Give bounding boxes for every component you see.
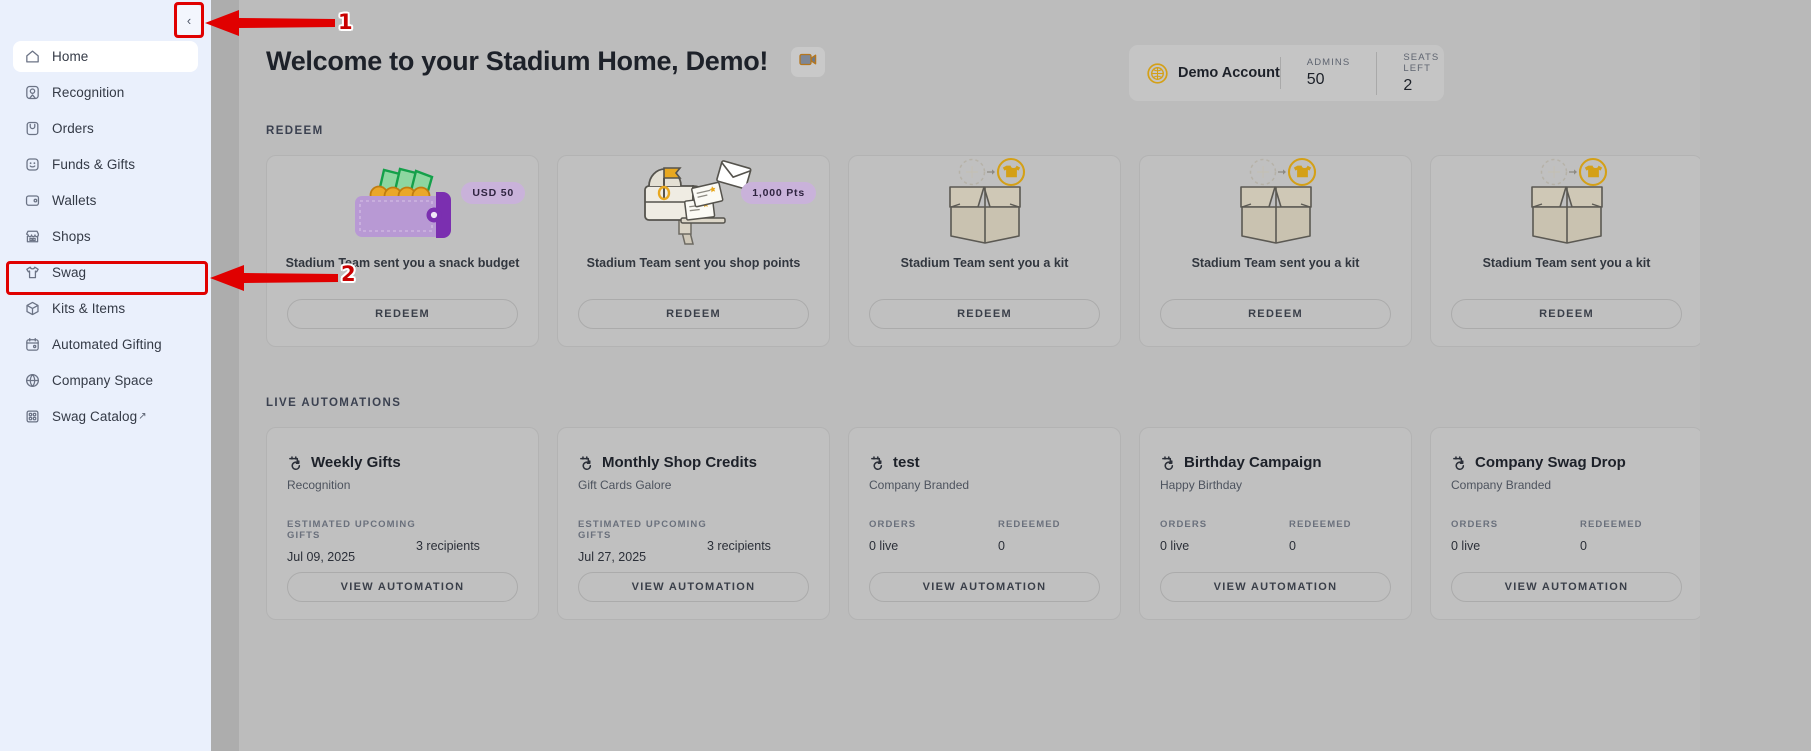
automation-card-name: Birthday Campaign <box>1184 454 1322 471</box>
collapse-sidebar-button[interactable]: ‹ <box>176 4 202 36</box>
chevron-left-icon: ‹ <box>187 13 191 28</box>
open-box-art <box>925 156 1045 253</box>
sidebar-item-label: Funds & Gifts <box>52 157 135 172</box>
intro-video-button[interactable] <box>791 47 825 77</box>
sidebar-item-label: Automated Gifting <box>52 337 162 352</box>
redeem-card-caption: Stadium Team sent you a snack budget <box>267 256 538 270</box>
automation-card-name: Monthly Shop Credits <box>602 454 757 471</box>
view-automation-button[interactable]: VIEW AUTOMATION <box>1451 572 1682 602</box>
redeem-card-badge: USD 50 <box>461 182 525 204</box>
automation-card[interactable]: Company Swag DropCompany BrandedORDERS0 … <box>1430 427 1700 620</box>
funds-gifts-icon <box>23 156 41 174</box>
app-root: HomeRecognitionOrdersFunds & GiftsWallet… <box>0 0 1811 751</box>
automation-stat-secondary: 3 recipients <box>707 519 836 564</box>
automation-stat-primary: ORDERS0 live <box>1160 519 1289 553</box>
home-icon <box>23 48 41 66</box>
automation-stat-primary-label: ORDERS <box>1160 519 1289 530</box>
redeem-card-caption: Stadium Team sent you a kit <box>1140 256 1411 270</box>
wallet-cash-art <box>350 158 455 251</box>
redeem-card-art-wrap <box>1140 156 1411 252</box>
video-camera-icon <box>799 53 817 71</box>
redeem-card[interactable]: 1,000 PtsStadium Team sent you shop poin… <box>557 155 830 347</box>
automation-card[interactable]: testCompany BrandedORDERS0 liveREDEEMED0… <box>848 427 1121 620</box>
main-content: Welcome to your Stadium Home, Demo! De <box>239 0 1700 751</box>
sidebar-item-recognition[interactable]: Recognition <box>13 77 198 108</box>
sidebar-item-funds-and-gifts[interactable]: Funds & Gifts <box>13 149 198 180</box>
gold-coin-icon <box>1147 63 1168 84</box>
sidebar-item-label: Orders <box>52 121 94 136</box>
automation-stat-primary-label: ORDERS <box>1451 519 1580 530</box>
automation-card-stats: ORDERS0 liveREDEEMED0 <box>849 519 1120 553</box>
account-stat-admins-label: ADMINS <box>1307 57 1351 68</box>
automation-stat-secondary: REDEEMED0 <box>1289 519 1418 553</box>
account-stat-admins: ADMINS 50 <box>1280 57 1351 89</box>
box-icon <box>23 300 41 318</box>
automation-card-stats: ORDERS0 liveREDEEMED0 <box>1140 519 1411 553</box>
automation-repeat-icon <box>1160 455 1176 471</box>
automation-card-name: Weekly Gifts <box>311 454 401 471</box>
automation-stat-primary: ORDERS0 live <box>869 519 998 553</box>
automation-card-name: Company Swag Drop <box>1475 454 1626 471</box>
automation-stat-secondary-label <box>707 519 836 530</box>
automation-card-header: Monthly Shop Credits <box>558 428 829 471</box>
sidebar-item-home[interactable]: Home <box>13 41 198 72</box>
hero-header: Welcome to your Stadium Home, Demo! <box>266 46 825 77</box>
sidebar-item-wallets[interactable]: Wallets <box>13 185 198 216</box>
view-automation-button[interactable]: VIEW AUTOMATION <box>578 572 809 602</box>
sidebar-item-label: Company Space <box>52 373 153 388</box>
sidebar-item-automated-gifting[interactable]: Automated Gifting <box>13 329 198 360</box>
automation-card-header: Birthday Campaign <box>1140 428 1411 471</box>
automation-repeat-icon <box>869 455 885 471</box>
redeem-button[interactable]: REDEEM <box>869 299 1100 329</box>
redeem-section-title: REDEEM <box>266 125 324 137</box>
redeem-card[interactable]: USD 50Stadium Team sent you a snack budg… <box>266 155 539 347</box>
sidebar-item-label: Home <box>52 49 88 64</box>
sidebar-item-label: Swag <box>52 265 86 280</box>
automation-card-subtitle: Gift Cards Galore <box>558 478 829 492</box>
automation-card[interactable]: Birthday CampaignHappy BirthdayORDERS0 l… <box>1139 427 1412 620</box>
automation-stat-primary-value: Jul 27, 2025 <box>578 550 707 564</box>
view-automation-button[interactable]: VIEW AUTOMATION <box>869 572 1100 602</box>
automation-stat-primary: ORDERS0 live <box>1451 519 1580 553</box>
redeem-card-badge: 1,000 Pts <box>741 182 816 204</box>
automation-stat-primary: ESTIMATED UPCOMING GIFTSJul 09, 2025 <box>287 519 416 564</box>
automation-stat-secondary: 3 recipients <box>416 519 545 564</box>
sidebar-item-swag[interactable]: Swag <box>13 257 198 288</box>
automation-stat-primary-value: 0 live <box>1451 539 1580 553</box>
automation-card-header: Weekly Gifts <box>267 428 538 471</box>
automation-stat-primary-value: Jul 09, 2025 <box>287 550 416 564</box>
automation-stat-secondary: REDEEMED0 <box>1580 519 1700 553</box>
redeem-card-caption: Stadium Team sent you a kit <box>1431 256 1700 270</box>
sidebar-item-swag-catalog[interactable]: Swag Catalog↗ <box>13 401 198 432</box>
sidebar-item-kits-and-items[interactable]: Kits & Items <box>13 293 198 324</box>
mailbox-art <box>635 156 753 253</box>
automation-stat-primary-label: ESTIMATED UPCOMING GIFTS <box>578 519 707 541</box>
automation-card-subtitle: Company Branded <box>849 478 1120 492</box>
sidebar-item-shops[interactable]: Shops <box>13 221 198 252</box>
automation-stat-secondary-value: 3 recipients <box>416 539 545 553</box>
sidebar-item-company-space[interactable]: Company Space <box>13 365 198 396</box>
account-chip[interactable]: Demo Account ADMINS 50 SEATS LEFT 2 <box>1129 45 1444 101</box>
sidebar-item-label: Kits & Items <box>52 301 125 316</box>
automation-repeat-icon <box>287 455 303 471</box>
automation-stat-secondary-value: 0 <box>1580 539 1700 553</box>
automation-stat-secondary-label: REDEEMED <box>1580 519 1700 530</box>
sidebar-item-orders[interactable]: Orders <box>13 113 198 144</box>
automation-card-name: test <box>893 454 920 471</box>
view-automation-button[interactable]: VIEW AUTOMATION <box>1160 572 1391 602</box>
account-name: Demo Account <box>1178 65 1280 81</box>
redeem-card-caption: Stadium Team sent you shop points <box>558 256 829 270</box>
calendar-icon <box>23 336 41 354</box>
live-automations-card-rail[interactable]: Weekly GiftsRecognitionESTIMATED UPCOMIN… <box>266 427 1700 620</box>
catalog-icon <box>23 408 41 426</box>
automation-card-subtitle: Recognition <box>267 478 538 492</box>
automation-stat-secondary-label: REDEEMED <box>998 519 1127 530</box>
automation-card-header: test <box>849 428 1120 471</box>
automation-stat-primary-value: 0 live <box>1160 539 1289 553</box>
open-box-art <box>1216 156 1336 253</box>
automation-stat-primary-label: ESTIMATED UPCOMING GIFTS <box>287 519 416 541</box>
automation-card-stats: ESTIMATED UPCOMING GIFTSJul 09, 2025 3 r… <box>267 519 538 564</box>
tshirt-icon <box>23 264 41 282</box>
automation-card-stats: ORDERS0 liveREDEEMED0 <box>1431 519 1700 553</box>
automation-card-stats: ESTIMATED UPCOMING GIFTSJul 27, 2025 3 r… <box>558 519 829 564</box>
live-automations-section-title: LIVE AUTOMATIONS <box>266 397 401 409</box>
automation-stat-primary: ESTIMATED UPCOMING GIFTSJul 27, 2025 <box>578 519 707 564</box>
redeem-card-art-wrap: USD 50 <box>267 156 538 252</box>
automation-card-header: Company Swag Drop <box>1431 428 1700 471</box>
automation-stat-primary-value: 0 live <box>869 539 998 553</box>
sidebar-gutter <box>211 0 239 751</box>
open-box-art <box>1507 156 1627 253</box>
automation-stat-primary-label: ORDERS <box>869 519 998 530</box>
redeem-button[interactable]: REDEEM <box>578 299 809 329</box>
sidebar-item-label: Wallets <box>52 193 96 208</box>
automation-card[interactable]: Monthly Shop CreditsGift Cards GaloreEST… <box>557 427 830 620</box>
view-automation-button[interactable]: VIEW AUTOMATION <box>287 572 518 602</box>
sidebar-item-label: Swag Catalog <box>52 409 137 424</box>
page-title: Welcome to your Stadium Home, Demo! <box>266 46 768 77</box>
redeem-card[interactable]: Stadium Team sent you a kitREDEEM <box>1430 155 1700 347</box>
automation-card[interactable]: Weekly GiftsRecognitionESTIMATED UPCOMIN… <box>266 427 539 620</box>
account-stat-seats-left: SEATS LEFT 2 <box>1376 52 1439 95</box>
redeem-card-art-wrap <box>849 156 1120 252</box>
redeem-card-art-wrap <box>1431 156 1700 252</box>
recognition-icon <box>23 84 41 102</box>
automation-stat-secondary-value: 0 <box>998 539 1127 553</box>
sidebar: HomeRecognitionOrdersFunds & GiftsWallet… <box>0 0 211 751</box>
redeem-card[interactable]: Stadium Team sent you a kitREDEEM <box>1139 155 1412 347</box>
sidebar-item-label: Shops <box>52 229 91 244</box>
redeem-card-caption: Stadium Team sent you a kit <box>849 256 1120 270</box>
globe-icon <box>23 372 41 390</box>
redeem-card-art-wrap: 1,000 Pts <box>558 156 829 252</box>
redeem-button[interactable]: REDEEM <box>1160 299 1391 329</box>
sidebar-nav-list: HomeRecognitionOrdersFunds & GiftsWallet… <box>0 0 211 432</box>
account-stat-seats-left-value: 2 <box>1403 77 1439 95</box>
orders-icon <box>23 120 41 138</box>
automation-stat-secondary-label <box>416 519 545 530</box>
automation-stat-secondary-label: REDEEMED <box>1289 519 1418 530</box>
automation-repeat-icon <box>578 455 594 471</box>
wallet-icon <box>23 192 41 210</box>
automation-repeat-icon <box>1451 455 1467 471</box>
account-stat-admins-value: 50 <box>1307 71 1351 89</box>
redeem-card-rail[interactable]: USD 50Stadium Team sent you a snack budg… <box>266 155 1700 347</box>
automation-stat-secondary-value: 0 <box>1289 539 1418 553</box>
automation-stat-secondary-value: 3 recipients <box>707 539 836 553</box>
external-link-icon: ↗ <box>138 411 146 422</box>
automation-stat-secondary: REDEEMED0 <box>998 519 1127 553</box>
shop-icon <box>23 228 41 246</box>
account-stat-seats-left-label: SEATS LEFT <box>1403 52 1439 74</box>
automation-card-subtitle: Company Branded <box>1431 478 1700 492</box>
redeem-card[interactable]: Stadium Team sent you a kitREDEEM <box>848 155 1121 347</box>
automation-card-subtitle: Happy Birthday <box>1140 478 1411 492</box>
sidebar-item-label: Recognition <box>52 85 124 100</box>
redeem-button[interactable]: REDEEM <box>287 299 518 329</box>
redeem-button[interactable]: REDEEM <box>1451 299 1682 329</box>
main-right-fade <box>1700 0 1811 751</box>
